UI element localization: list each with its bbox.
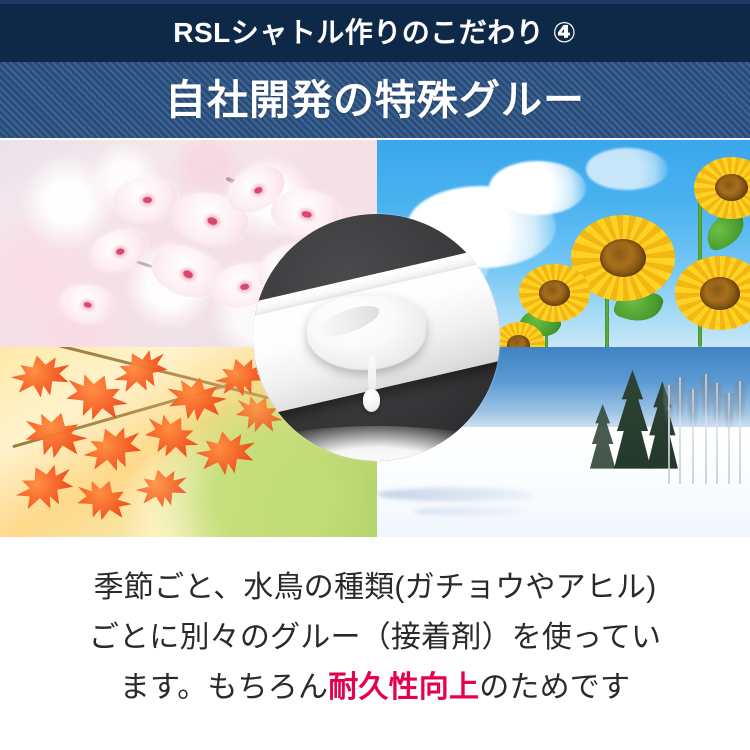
- header-kicker-text: RSLシャトル作りのこだわり ④: [173, 19, 577, 47]
- header-headline-text: 自社開発の特殊グルー: [165, 80, 585, 121]
- glue-medallion: [253, 214, 500, 461]
- caption-line-3: ます。もちろん耐久性向上のためです: [0, 663, 750, 713]
- caption-line-3-pre: ます。もちろん: [120, 671, 328, 704]
- caption-block: 季節ごと、水鳥の種類(ガチョウやアヒル) ごとに別々のグルー（接着剤）を使ってい…: [0, 545, 750, 750]
- caption-line-2: ごとに別々のグルー（接着剤）を使ってい: [0, 613, 750, 663]
- glue-base: [253, 426, 500, 461]
- caption-highlight-durability: 耐久性向上: [328, 671, 479, 704]
- glue-droplet: [363, 389, 380, 411]
- season-collage: [0, 140, 750, 537]
- caption-line-1: 季節ごと、水鳥の種類(ガチョウやアヒル): [0, 563, 750, 613]
- header-kicker-band: RSLシャトル作りのこだわり ④: [0, 4, 750, 62]
- header-headline-band: 自社開発の特殊グルー: [0, 62, 750, 138]
- caption-line-3-post: のためです: [479, 671, 630, 704]
- infographic-page: RSLシャトル作りのこだわり ④ 自社開発の特殊グルー: [0, 0, 750, 750]
